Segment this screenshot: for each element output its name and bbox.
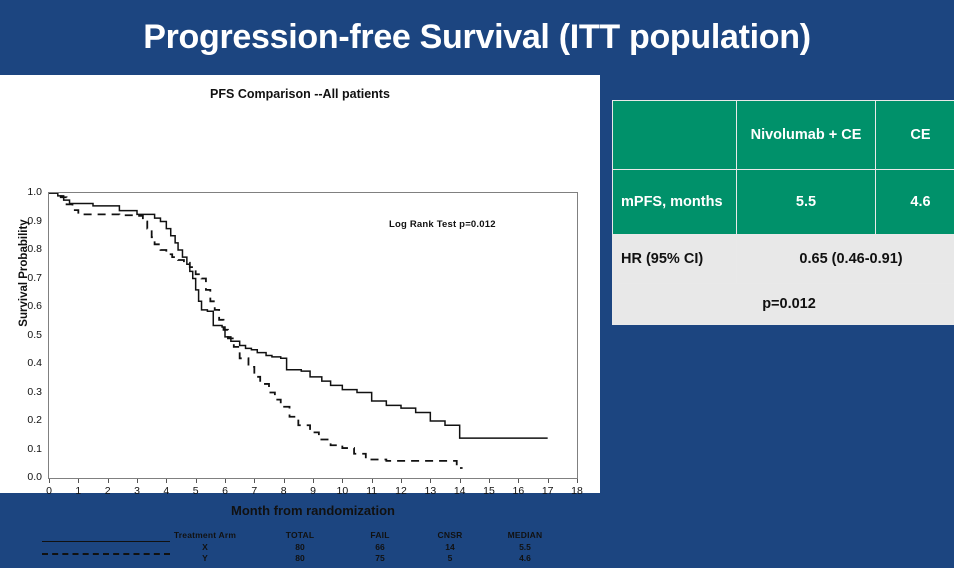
results-header-col2: CE <box>876 101 954 170</box>
risk-legend-table: Treatment ArmXYTOTAL8080FAIL6675CNSR145M… <box>0 527 600 568</box>
results-header-corner <box>613 101 737 170</box>
mpfs-label: mPFS, months <box>613 170 737 235</box>
x-tick-mark <box>78 479 79 483</box>
x-tick-mark <box>196 479 197 483</box>
plot-area <box>48 192 578 479</box>
x-axis-title: Month from randomization <box>48 503 578 518</box>
x-tick-mark <box>137 479 138 483</box>
hr-label: HR (95% CI) <box>613 235 737 284</box>
results-table: Nivolumab + CE CE mPFS, months 5.5 4.6 H… <box>612 100 954 325</box>
table-row-mpfs: mPFS, months 5.5 4.6 <box>613 170 954 235</box>
x-tick-label: 17 <box>536 485 560 497</box>
x-tick-label: 4 <box>154 485 178 497</box>
figure-panel: PFS Comparison --All patients Survival P… <box>0 75 600 493</box>
x-tick-label: 14 <box>448 485 472 497</box>
x-tick-mark <box>313 479 314 483</box>
x-tick-label: 15 <box>477 485 501 497</box>
x-tick-mark <box>166 479 167 483</box>
risk-col-header: MEDIAN <box>475 530 575 540</box>
table-row-header: Nivolumab + CE CE <box>613 101 954 170</box>
x-tick-label: 2 <box>96 485 120 497</box>
risk-row-y-cell: 4.6 <box>475 553 575 563</box>
x-tick-mark <box>225 479 226 483</box>
x-tick-label: 3 <box>125 485 149 497</box>
p-value: p=0.012 <box>613 284 954 325</box>
x-tick-label: 10 <box>330 485 354 497</box>
x-tick-label: 0 <box>37 485 61 497</box>
x-tick-mark <box>430 479 431 483</box>
x-tick-mark <box>254 479 255 483</box>
risk-row-x-cell: 5.5 <box>475 542 575 552</box>
x-tick-label: 9 <box>301 485 325 497</box>
risk-row-y-cell: Y <box>155 553 255 563</box>
x-tick-label: 5 <box>184 485 208 497</box>
log-rank-annotation: Log Rank Test p=0.012 <box>389 219 496 230</box>
x-tick-label: 18 <box>565 485 589 497</box>
x-tick-label: 12 <box>389 485 413 497</box>
table-row-pvalue: p=0.012 <box>613 284 954 325</box>
km-curves-svg <box>49 193 577 478</box>
x-tick-mark <box>460 479 461 483</box>
x-tick-label: 11 <box>360 485 384 497</box>
x-tick-label: 13 <box>418 485 442 497</box>
results-header-col1: Nivolumab + CE <box>737 101 876 170</box>
table-row-hr: HR (95% CI) 0.65 (0.46-0.91) <box>613 235 954 284</box>
page-title: Progression-free Survival (ITT populatio… <box>143 18 810 57</box>
risk-col-header: Treatment Arm <box>155 530 255 540</box>
legend-dashed-line-icon <box>42 553 170 555</box>
x-tick-mark <box>108 479 109 483</box>
x-tick-label: 1 <box>66 485 90 497</box>
mpfs-value-nivolumab-ce: 5.5 <box>737 170 876 235</box>
x-tick-mark <box>49 479 50 483</box>
x-tick-mark <box>342 479 343 483</box>
x-tick-mark <box>284 479 285 483</box>
mpfs-value-ce: 4.6 <box>876 170 954 235</box>
km-curve-y <box>49 193 463 468</box>
slide-header-band: Progression-free Survival (ITT populatio… <box>0 0 954 75</box>
x-tick-mark <box>548 479 549 483</box>
legend-solid-line-icon <box>42 541 170 542</box>
x-tick-label: 16 <box>506 485 530 497</box>
x-tick-mark <box>372 479 373 483</box>
x-tick-label: 7 <box>242 485 266 497</box>
x-tick-mark <box>401 479 402 483</box>
x-tick-mark <box>518 479 519 483</box>
risk-row-x-cell: X <box>155 542 255 552</box>
x-tick-mark <box>577 479 578 483</box>
x-tick-label: 6 <box>213 485 237 497</box>
x-tick-label: 8 <box>272 485 296 497</box>
hr-value: 0.65 (0.46-0.91) <box>737 235 954 284</box>
x-tick-mark <box>489 479 490 483</box>
